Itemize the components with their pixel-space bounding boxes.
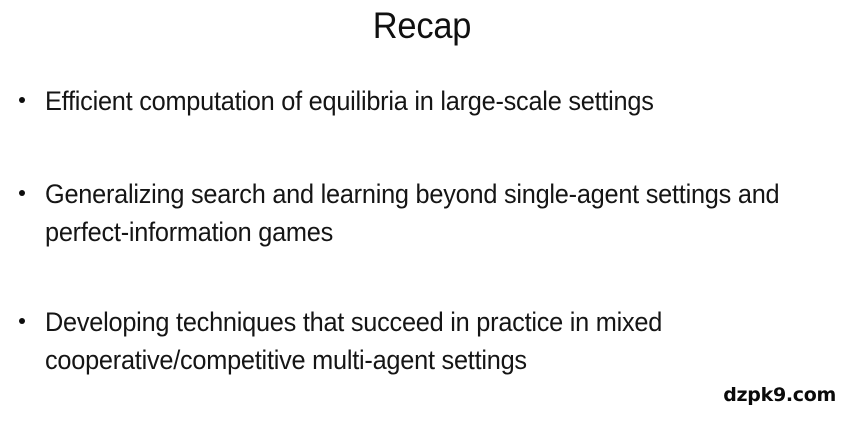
list-item-label: Efficient computation of equilibria in l… — [45, 82, 808, 120]
list-item-label: Generalizing search and learning beyond … — [45, 175, 808, 251]
bullet-dot-icon — [19, 318, 25, 324]
presentation-slide: Recap Efficient computation of equilibri… — [0, 0, 844, 421]
watermark: dzpk9.com — [723, 386, 836, 405]
page-title: Recap — [30, 4, 815, 48]
bullet-dot-icon — [19, 190, 25, 196]
list-item: Developing techniques that succeed in pr… — [0, 303, 844, 379]
bullet-dot-icon — [19, 97, 25, 103]
list-item-label: Developing techniques that succeed in pr… — [45, 303, 808, 379]
list-item: Generalizing search and learning beyond … — [0, 175, 844, 251]
bullet-list: Efficient computation of equilibria in l… — [0, 82, 844, 379]
list-item: Efficient computation of equilibria in l… — [0, 82, 844, 120]
